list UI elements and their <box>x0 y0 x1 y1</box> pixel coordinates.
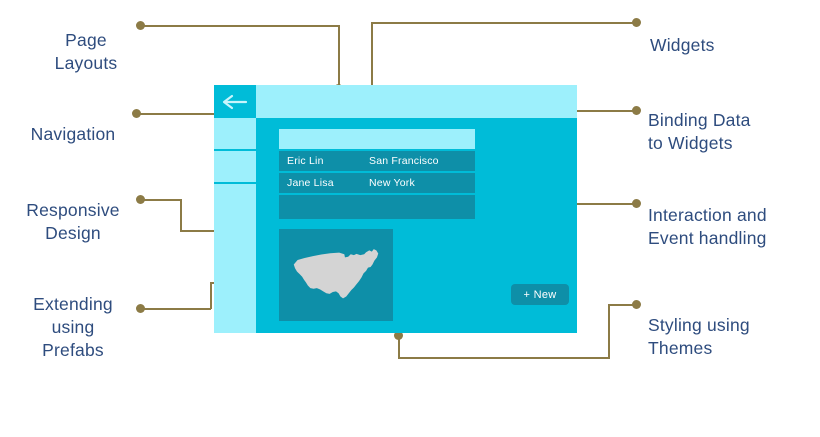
cell-city: San Francisco <box>361 155 469 167</box>
callout-binding-data: Binding Data to Widgets <box>648 86 808 155</box>
leader-line-styling-h2 <box>398 357 610 359</box>
callout-interaction-events-label: Interaction and Event handling <box>648 205 767 248</box>
callout-responsive-design: Responsive Design <box>6 176 140 245</box>
new-button[interactable]: + New <box>511 284 569 305</box>
callout-navigation: Navigation <box>10 100 136 146</box>
table-row[interactable]: Jane Lisa New York <box>279 171 475 193</box>
leader-dot-widgets <box>632 18 641 27</box>
leader-dot-binding-data <box>632 106 641 115</box>
app-content-area: Eric Lin San Francisco Jane Lisa New Yor… <box>256 118 577 333</box>
callout-extending-prefabs: Extending using Prefabs <box>14 270 132 362</box>
cell-name: Eric Lin <box>279 155 361 167</box>
callout-page-layouts-label: Page Layouts <box>55 30 118 73</box>
leader-line-extending-h1 <box>141 308 211 310</box>
data-grid-header-row <box>279 129 475 149</box>
app-topbar <box>214 85 577 118</box>
app-sidebar <box>214 118 256 333</box>
map-widget[interactable] <box>279 229 393 321</box>
back-button[interactable] <box>214 85 256 118</box>
sidebar-item-1[interactable] <box>214 118 256 149</box>
callout-widgets: Widgets <box>650 11 770 57</box>
leader-line-page-layouts-h <box>141 25 339 27</box>
leader-line-styling-h1 <box>608 304 634 306</box>
leader-line-extending-v <box>210 282 212 309</box>
usa-map-icon <box>288 243 384 307</box>
data-grid-widget[interactable]: Eric Lin San Francisco Jane Lisa New Yor… <box>279 129 475 219</box>
callout-styling-themes: Styling using Themes <box>648 291 808 360</box>
table-row[interactable]: Eric Lin San Francisco <box>279 149 475 171</box>
back-arrow-icon <box>222 94 248 110</box>
callout-binding-data-label: Binding Data to Widgets <box>648 110 751 153</box>
callout-widgets-label: Widgets <box>650 35 715 55</box>
leader-line-responsive-h1 <box>141 199 181 201</box>
leader-line-page-layouts-v <box>338 25 340 88</box>
cell-name: Jane Lisa <box>279 177 361 189</box>
leader-line-widgets-h <box>371 22 633 24</box>
leader-dot-interaction <box>632 199 641 208</box>
callout-navigation-label: Navigation <box>31 124 116 144</box>
cell-city: New York <box>361 177 469 189</box>
callout-responsive-design-label: Responsive Design <box>26 200 119 243</box>
mock-app-window: Eric Lin San Francisco Jane Lisa New Yor… <box>214 85 577 333</box>
sidebar-item-2[interactable] <box>214 151 256 182</box>
table-row-empty[interactable] <box>279 193 475 219</box>
leader-line-styling-v1 <box>608 304 610 358</box>
callout-interaction-events: Interaction and Event handling <box>648 181 813 250</box>
callout-styling-themes-label: Styling using Themes <box>648 315 750 358</box>
callout-page-layouts: Page Layouts <box>36 6 136 75</box>
leader-line-responsive-v <box>180 199 182 231</box>
callout-extending-prefabs-label: Extending using Prefabs <box>33 294 113 360</box>
sidebar-item-3[interactable] <box>214 184 256 333</box>
new-button-label: + New <box>524 289 557 301</box>
